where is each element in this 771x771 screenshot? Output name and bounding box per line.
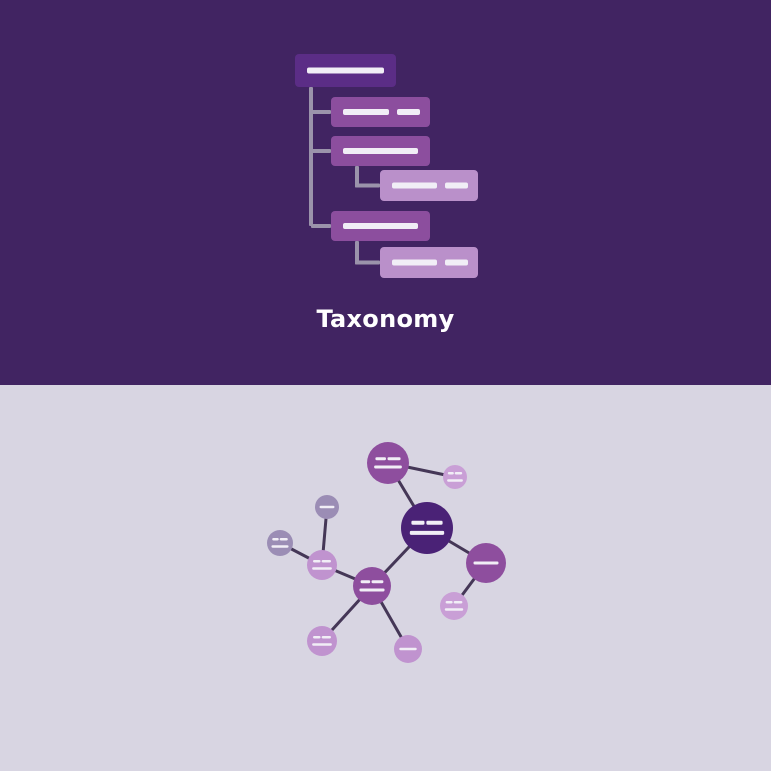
placeholder-bar bbox=[392, 260, 437, 266]
placeholder-bar bbox=[474, 562, 499, 565]
placeholder-bar bbox=[361, 580, 371, 583]
ontology-node-left-up bbox=[315, 495, 339, 519]
placeholder-bar bbox=[372, 580, 384, 583]
placeholder-bar bbox=[455, 472, 462, 475]
taxonomy-caption: Taxonomy bbox=[0, 305, 771, 333]
ontology-node-circle bbox=[307, 550, 337, 580]
placeholder-bar bbox=[397, 109, 420, 115]
connector-sub-h-2 bbox=[355, 261, 380, 265]
placeholder-bar bbox=[374, 465, 402, 468]
connector-branch-2 bbox=[311, 149, 331, 153]
ontology-nodes bbox=[267, 442, 506, 663]
taxonomy-node-child2 bbox=[331, 136, 430, 166]
placeholder-bar bbox=[313, 636, 321, 639]
placeholder-bar bbox=[399, 648, 417, 651]
taxonomy-node-child1 bbox=[331, 97, 430, 127]
ontology-node-circle bbox=[443, 465, 467, 489]
placeholder-bar bbox=[312, 567, 332, 570]
placeholder-bar bbox=[448, 472, 454, 475]
placeholder-bar bbox=[445, 183, 468, 189]
placeholder-bar bbox=[426, 521, 442, 525]
placeholder-bar bbox=[445, 608, 463, 611]
ontology-node-circle bbox=[267, 530, 293, 556]
placeholder-bar bbox=[307, 68, 384, 74]
ontology-node-bottom-left bbox=[307, 626, 337, 656]
placeholder-bar bbox=[320, 506, 335, 509]
placeholder-bar bbox=[312, 643, 332, 646]
placeholder-bar bbox=[359, 588, 384, 591]
ontology-node-far-left bbox=[267, 530, 293, 556]
ontology-graph-diagram bbox=[0, 385, 771, 771]
ontology-node-left-pink bbox=[307, 550, 337, 580]
connector-sub-h-1 bbox=[355, 184, 380, 188]
placeholder-bar bbox=[322, 636, 331, 639]
placeholder-bar bbox=[343, 223, 418, 229]
placeholder-bar bbox=[272, 538, 279, 541]
placeholder-bar bbox=[454, 601, 463, 604]
placeholder-bar bbox=[445, 260, 468, 266]
placeholder-bar bbox=[322, 560, 331, 563]
taxonomy-node-child2a bbox=[380, 170, 478, 201]
placeholder-bar bbox=[375, 457, 386, 460]
ontology-node-center bbox=[401, 502, 453, 554]
ontology-node-top bbox=[367, 442, 409, 484]
taxonomy-boxes bbox=[295, 54, 478, 278]
ontology-node-circle bbox=[307, 626, 337, 656]
ontology-node-circle bbox=[367, 442, 409, 484]
ontology-node-top-right bbox=[443, 465, 467, 489]
placeholder-bar bbox=[411, 521, 424, 525]
placeholder-bar bbox=[447, 479, 463, 482]
connector-branch-3 bbox=[311, 224, 331, 228]
placeholder-bar bbox=[271, 545, 288, 548]
taxonomy-node-child3a bbox=[380, 247, 478, 278]
ontology-node-circle bbox=[353, 567, 391, 605]
connector-branch-1 bbox=[311, 110, 331, 114]
placeholder-bar bbox=[343, 148, 418, 154]
placeholder-bar bbox=[280, 538, 288, 541]
ontology-node-mid-low bbox=[353, 567, 391, 605]
infographic-canvas: Taxonomy Ontology bbox=[0, 0, 771, 771]
ontology-node-bottom-right bbox=[394, 635, 422, 663]
placeholder-bar bbox=[387, 457, 400, 460]
placeholder-bar bbox=[410, 531, 444, 535]
placeholder-bar bbox=[343, 109, 389, 115]
ontology-node-right bbox=[466, 543, 506, 583]
placeholder-bar bbox=[392, 183, 437, 189]
placeholder-bar bbox=[313, 560, 321, 563]
taxonomy-panel: Taxonomy bbox=[0, 0, 771, 385]
connector-trunk bbox=[309, 87, 313, 226]
ontology-node-circle bbox=[401, 502, 453, 554]
placeholder-bar bbox=[446, 601, 453, 604]
taxonomy-node-root bbox=[295, 54, 396, 87]
ontology-node-right-low bbox=[440, 592, 468, 620]
ontology-panel: Ontology bbox=[0, 385, 771, 771]
ontology-node-circle bbox=[440, 592, 468, 620]
taxonomy-node-child3 bbox=[331, 211, 430, 241]
